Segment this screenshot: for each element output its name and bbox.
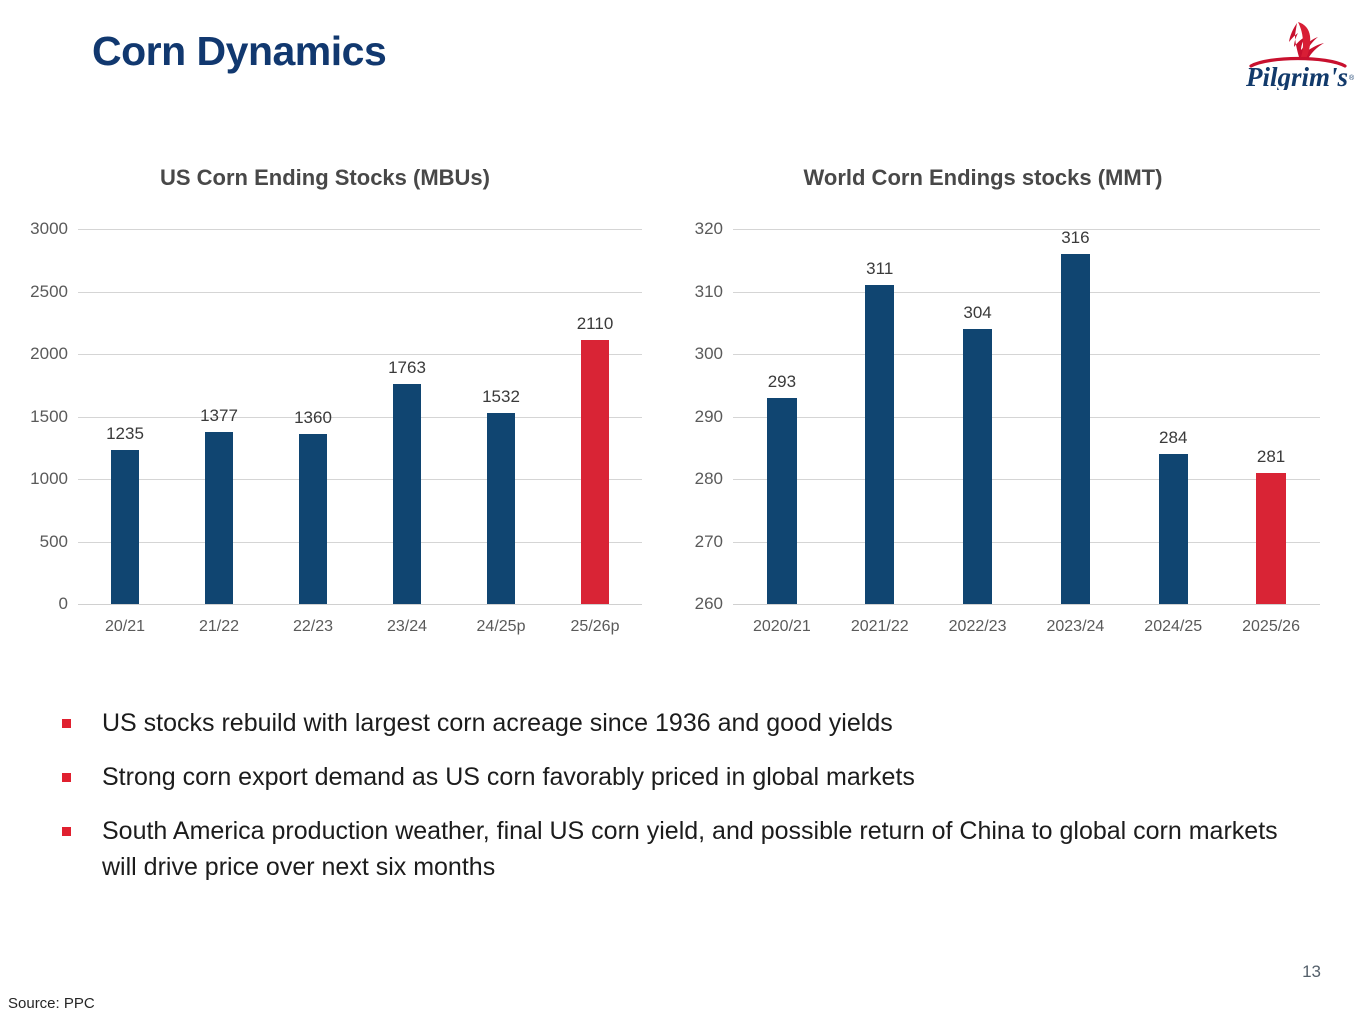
bar-value-label: 284 <box>1159 428 1187 448</box>
bar-2021-22[interactable]: 311 <box>865 285 894 604</box>
x-axis-tick-label: 2022/23 <box>929 618 1027 636</box>
list-item: Strong corn export demand as US corn fav… <box>62 759 1302 795</box>
x-axis-tick-label: 25/26p <box>548 618 642 636</box>
bullet-text: Strong corn export demand as US corn fav… <box>102 759 915 795</box>
bullet-text: South America production weather, final … <box>102 813 1302 885</box>
source-note: Source: PPC <box>8 995 95 1012</box>
x-axis-tick-label: 21/22 <box>172 618 266 636</box>
y-axis-tick-label: 290 <box>695 407 723 427</box>
plot-inner: 260270280290300310320293311304316284281 <box>733 229 1320 604</box>
bullet-square-icon <box>62 719 71 728</box>
bar-value-label: 1235 <box>106 424 144 444</box>
bar-slot: 1763 <box>360 229 454 604</box>
chart-title: World Corn Endings stocks (MMT) <box>650 165 1360 191</box>
registered-mark: ® <box>1349 74 1355 82</box>
x-axis: 2020/212021/222022/232023/242024/252025/… <box>733 618 1320 636</box>
bar-20-21[interactable]: 1235 <box>111 450 139 604</box>
bullet-list: US stocks rebuild with largest corn acre… <box>62 705 1302 903</box>
bar-2025-26[interactable]: 281 <box>1256 473 1285 604</box>
x-axis-tick-label: 2020/21 <box>733 618 831 636</box>
logo-wordmark: Pilgrim's <box>1245 62 1348 90</box>
bar-slot: 1377 <box>172 229 266 604</box>
x-axis-tick-label: 23/24 <box>360 618 454 636</box>
bullet-text: US stocks rebuild with largest corn acre… <box>102 705 893 741</box>
y-axis-tick-label: 260 <box>695 594 723 614</box>
list-item: South America production weather, final … <box>62 813 1302 885</box>
y-axis-tick-label: 270 <box>695 532 723 552</box>
bar-slot: 2110 <box>548 229 642 604</box>
bar-slot: 311 <box>831 229 929 604</box>
x-axis-tick-label: 22/23 <box>266 618 360 636</box>
page-title: Corn Dynamics <box>92 28 386 75</box>
bar-2023-24[interactable]: 316 <box>1061 254 1090 604</box>
bar-slot: 1360 <box>266 229 360 604</box>
bar-value-label: 2110 <box>577 314 614 334</box>
bar-slot: 284 <box>1124 229 1222 604</box>
bar-value-label: 311 <box>866 259 893 279</box>
plot-inner: 0500100015002000250030001235137713601763… <box>78 229 642 604</box>
chart-us-corn-ending-stocks: US Corn Ending Stocks (MBUs) 05001000150… <box>0 155 660 645</box>
y-axis-tick-label: 0 <box>59 594 68 614</box>
y-axis-tick-label: 280 <box>695 469 723 489</box>
bar-value-label: 316 <box>1061 228 1089 248</box>
bar-slot: 304 <box>929 229 1027 604</box>
y-axis-tick-label: 2000 <box>30 344 68 364</box>
pilgrims-logo: Pilgrim's ® <box>1239 16 1357 90</box>
bar-series: 123513771360176315322110 <box>78 229 642 604</box>
bar-value-label: 1360 <box>294 408 332 428</box>
bar-2022-23[interactable]: 304 <box>963 329 992 604</box>
x-axis-tick-label: 20/21 <box>78 618 172 636</box>
y-axis-tick-label: 500 <box>40 532 68 552</box>
gridline <box>78 604 642 605</box>
bar-slot: 293 <box>733 229 831 604</box>
bar-21-22[interactable]: 1377 <box>205 432 233 604</box>
bar-value-label: 1763 <box>388 358 426 378</box>
y-axis-tick-label: 3000 <box>30 219 68 239</box>
y-axis-tick-label: 300 <box>695 344 723 364</box>
bar-25-26p[interactable]: 2110 <box>581 340 609 604</box>
bar-value-label: 293 <box>768 372 796 392</box>
x-axis-tick-label: 2023/24 <box>1026 618 1124 636</box>
bar-24-25p[interactable]: 1532 <box>487 413 515 605</box>
chart-title: US Corn Ending Stocks (MBUs) <box>0 165 660 191</box>
gridline <box>733 604 1320 605</box>
pilgrims-logo-svg: Pilgrim's ® <box>1239 16 1357 90</box>
y-axis-tick-label: 1000 <box>30 469 68 489</box>
bar-value-label: 1377 <box>200 406 238 426</box>
bar-series: 293311304316284281 <box>733 229 1320 604</box>
x-axis: 20/2121/2222/2323/2424/25p25/26p <box>78 618 642 636</box>
x-axis-tick-label: 2025/26 <box>1222 618 1320 636</box>
y-axis-tick-label: 1500 <box>30 407 68 427</box>
y-axis-tick-label: 320 <box>695 219 723 239</box>
y-axis-tick-label: 2500 <box>30 282 68 302</box>
x-axis-tick-label: 2024/25 <box>1124 618 1222 636</box>
y-axis-tick-label: 310 <box>695 282 723 302</box>
bar-23-24[interactable]: 1763 <box>393 384 421 604</box>
chart-world-corn-ending-stocks: World Corn Endings stocks (MMT) 26027028… <box>650 155 1360 645</box>
bar-slot: 1235 <box>78 229 172 604</box>
feather-icon <box>1289 22 1324 59</box>
bullet-square-icon <box>62 827 71 836</box>
bar-slot: 281 <box>1222 229 1320 604</box>
x-axis-tick-label: 24/25p <box>454 618 548 636</box>
bullet-square-icon <box>62 773 71 782</box>
bar-2024-25[interactable]: 284 <box>1159 454 1188 604</box>
bar-22-23[interactable]: 1360 <box>299 434 327 604</box>
bar-value-label: 304 <box>963 303 991 323</box>
bar-2020-21[interactable]: 293 <box>767 398 796 604</box>
x-axis-tick-label: 2021/22 <box>831 618 929 636</box>
list-item: US stocks rebuild with largest corn acre… <box>62 705 1302 741</box>
page-number: 13 <box>1302 962 1321 982</box>
bar-value-label: 1532 <box>482 387 520 407</box>
bar-slot: 1532 <box>454 229 548 604</box>
bar-slot: 316 <box>1026 229 1124 604</box>
slide: Corn Dynamics Pilgrim's ® US Corn Ending… <box>0 0 1365 1024</box>
bar-value-label: 281 <box>1257 447 1285 467</box>
